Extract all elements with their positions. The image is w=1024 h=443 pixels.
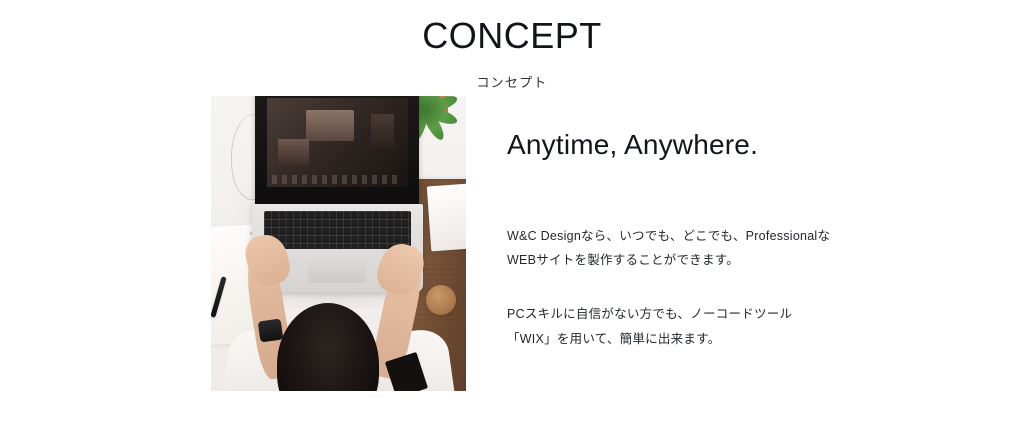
section-header: CONCEPT コンセプト xyxy=(0,0,1024,89)
concept-text-column: Anytime, Anywhere. W&C Designなら、いつでも、どこで… xyxy=(507,96,927,351)
laptop-screen xyxy=(267,98,408,187)
screen-content-b xyxy=(278,139,309,166)
concept-photo xyxy=(211,96,466,391)
laptop-lid xyxy=(255,96,419,208)
book-object xyxy=(427,183,466,251)
page-title: CONCEPT xyxy=(0,0,1024,54)
wooden-coaster xyxy=(426,285,456,315)
concept-paragraph-1: W&C Designなら、いつでも、どこでも、Professionalな WEB… xyxy=(507,162,927,273)
screen-content-c xyxy=(371,114,394,148)
concept-headline: Anytime, Anywhere. xyxy=(507,96,927,162)
screen-dock xyxy=(272,175,402,185)
concept-content: Anytime, Anywhere. W&C Designなら、いつでも、どこで… xyxy=(0,96,1024,396)
concept-paragraph-2: PCスキルに自信がない方でも、ノーコードツール 「WIX」を用いて、簡単に出来ま… xyxy=(507,272,927,351)
paragraph-line: WEBサイトを製作することができます。 xyxy=(507,248,927,272)
wrist-watch xyxy=(258,319,284,343)
concept-section-page: CONCEPT コンセプト xyxy=(0,0,1024,443)
laptop-trackpad xyxy=(308,255,366,283)
photo-canvas xyxy=(211,96,466,391)
laptop-keyboard xyxy=(264,211,411,250)
paragraph-line: PCスキルに自信がない方でも、ノーコードツール xyxy=(507,302,927,326)
paragraph-line: W&C Designなら、いつでも、どこでも、Professionalな xyxy=(507,224,927,248)
page-subtitle: コンセプト xyxy=(0,54,1024,89)
screen-content-a xyxy=(306,110,354,140)
paragraph-line: 「WIX」を用いて、簡単に出来ます。 xyxy=(507,327,927,351)
